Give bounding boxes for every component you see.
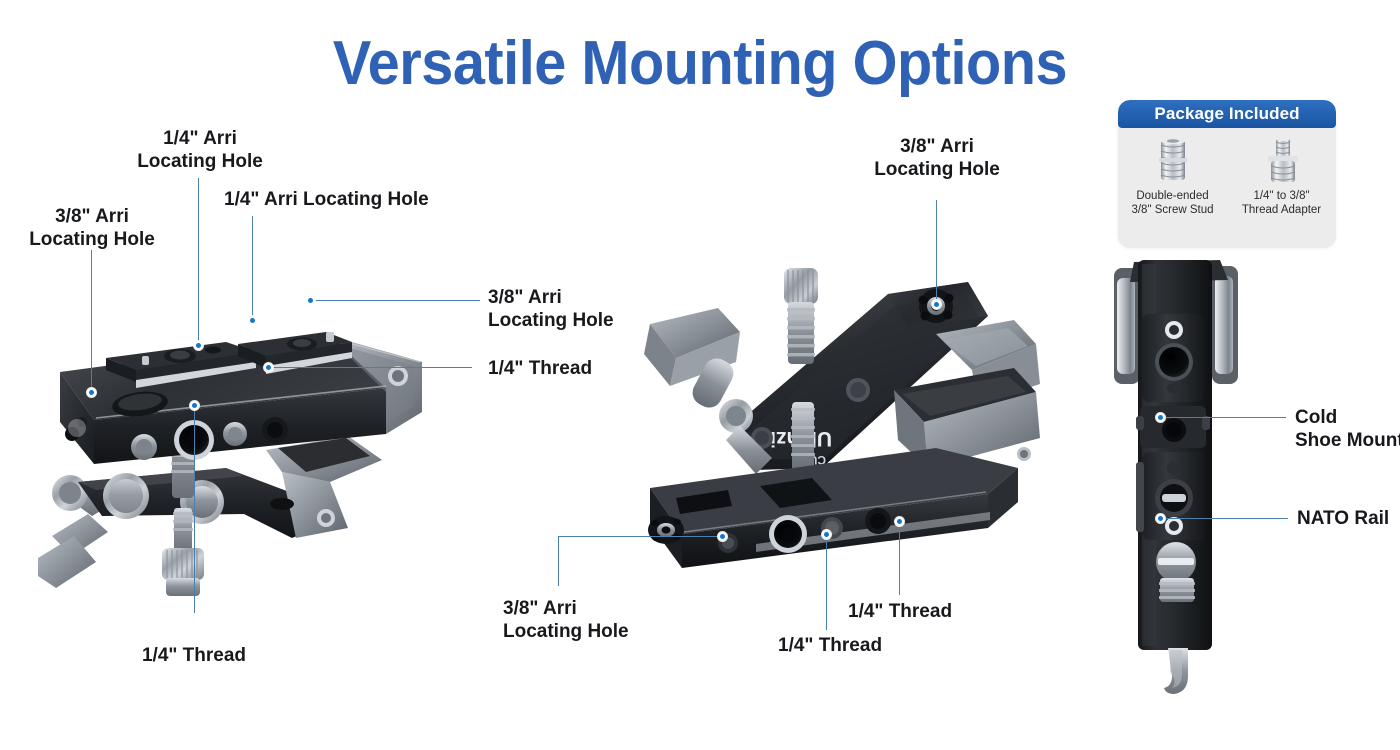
leader-line-m2-v	[558, 536, 559, 586]
middle-product-image: Ulanzi CU03	[636, 262, 1056, 572]
package-item-1-caption: 1/4" to 3/8" Thread Adapter	[1242, 189, 1321, 218]
callout-label-left-5: 1/4" Thread	[488, 357, 688, 380]
callout-label-right-1: Cold Shoe Mount	[1295, 406, 1400, 452]
right-product-image	[1112, 252, 1272, 702]
callout-label-middle-4: 1/4" Thread	[848, 600, 1008, 623]
leader-line-l3	[252, 216, 253, 320]
package-included-header: Package Included	[1118, 100, 1336, 128]
leader-line-l2	[198, 178, 199, 346]
leader-line-r1	[1160, 417, 1286, 418]
leader-line-m3	[826, 534, 827, 630]
callout-dot-l1	[87, 388, 96, 397]
callout-dot-m1	[932, 300, 941, 309]
callout-label-left-1: 3/8" Arri Locating Hole	[8, 205, 176, 251]
callout-dot-l5	[264, 363, 273, 372]
thread-adapter-screw-icon	[1262, 136, 1302, 184]
leader-line-m1	[936, 200, 937, 304]
callout-dot-l2	[194, 341, 203, 350]
package-included-body: Double-ended 3/8" Screw Stud	[1118, 128, 1336, 248]
callout-label-middle-3: 1/4" Thread	[778, 634, 938, 657]
callout-label-left-4: 3/8" Arri Locating Hole	[488, 286, 688, 332]
callout-dot-m2	[718, 532, 727, 541]
callout-label-middle-2: 3/8" Arri Locating Hole	[503, 597, 703, 643]
infographic-canvas: Versatile Mounting Options	[0, 0, 1400, 750]
leader-line-l5	[268, 367, 472, 368]
callout-label-middle-1: 3/8" Arri Locating Hole	[852, 135, 1022, 181]
leader-line-l1	[91, 250, 92, 392]
callout-dot-l4	[306, 296, 315, 305]
package-item-0: Double-ended 3/8" Screw Stud	[1118, 128, 1227, 248]
callout-dot-l6	[190, 401, 199, 410]
callout-label-left-6: 1/4" Thread	[110, 644, 278, 667]
callout-dot-m4	[895, 517, 904, 526]
leader-line-l6	[194, 405, 195, 613]
double-ended-screw-stud-icon	[1155, 136, 1191, 184]
callout-dot-m3	[822, 530, 831, 539]
package-included-card: Package Included	[1118, 100, 1336, 248]
callout-label-right-2: NATO Rail	[1297, 507, 1400, 530]
page-title: Versatile Mounting Options	[49, 28, 1351, 99]
leader-line-r2	[1160, 518, 1288, 519]
package-item-1: 1/4" to 3/8" Thread Adapter	[1227, 128, 1336, 248]
callout-dot-r2	[1156, 514, 1165, 523]
left-product-image	[30, 300, 450, 620]
leader-line-m2-h	[558, 536, 722, 537]
callout-dot-r1	[1156, 413, 1165, 422]
leader-line-l4	[310, 300, 480, 301]
package-item-0-caption: Double-ended 3/8" Screw Stud	[1131, 189, 1213, 218]
callout-label-left-3: 1/4" Arri Locating Hole	[224, 188, 524, 211]
callout-label-left-2: 1/4" Arri Locating Hole	[112, 127, 288, 173]
callout-dot-l3	[248, 316, 257, 325]
leader-line-m4	[899, 521, 900, 595]
